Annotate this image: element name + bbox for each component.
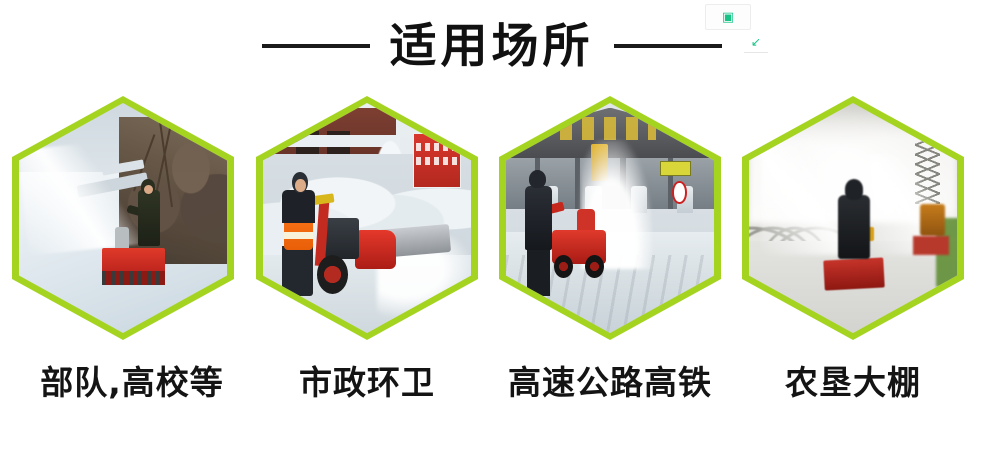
page-title: 适用场所	[390, 23, 594, 70]
screenshot-toolbar[interactable]: ▣	[705, 4, 751, 30]
page-header: 适用场所	[0, 0, 983, 92]
title-rule-right	[614, 44, 722, 48]
collapse-arrow-icon[interactable]: ↙	[751, 36, 761, 48]
collapse-toolbar-button[interactable]: ↙	[744, 31, 768, 53]
gallery-item-1[interactable]	[12, 96, 234, 340]
caption-item-2: 市政环卫	[247, 352, 487, 414]
gallery-item-3[interactable]	[499, 96, 721, 340]
caption-row: 部队,高校等 市政环卫 高速公路高铁 农垦大棚	[0, 352, 983, 414]
caption-item-4: 农垦大棚	[733, 352, 973, 414]
hexagon-gallery	[0, 96, 983, 342]
gallery-item-4[interactable]	[742, 96, 964, 340]
gallery-item-2[interactable]	[256, 96, 478, 340]
screenshot-capture-icon[interactable]: ▣	[722, 11, 734, 24]
title-rule-left	[262, 44, 370, 48]
caption-item-3: 高速公路高铁	[490, 352, 730, 414]
caption-item-1: 部队,高校等	[12, 352, 252, 414]
